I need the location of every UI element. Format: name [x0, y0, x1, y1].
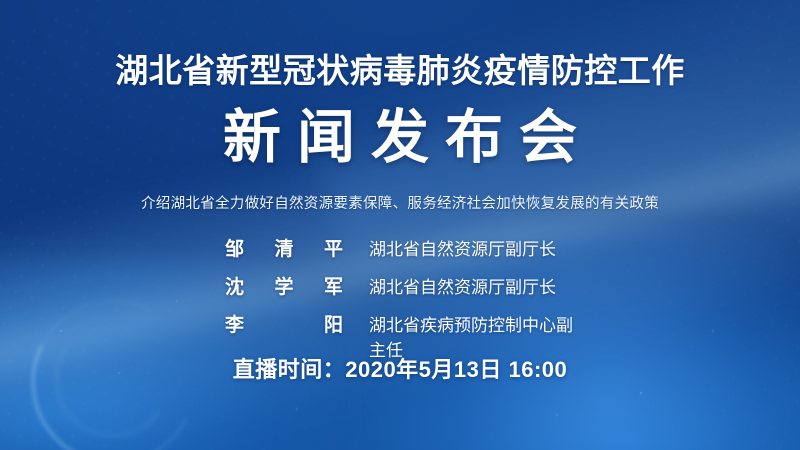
press-conference-poster: 湖北省新型冠状病毒肺炎疫情防控工作 新闻发布会 介绍湖北省全力做好自然资源要素保…	[0, 0, 800, 450]
broadcast-time: 直播时间：2020年5月13日 16:00	[0, 352, 800, 384]
list-item: 邹清平 湖北省自然资源厅副厅长	[225, 234, 575, 261]
page-title: 湖北省新型冠状病毒肺炎疫情防控工作	[0, 52, 800, 90]
list-item: 沈学军 湖北省自然资源厅副厅长	[225, 272, 575, 299]
speaker-name: 邹清平	[225, 234, 343, 261]
speaker-title: 湖北省自然资源厅副厅长	[343, 273, 575, 298]
speaker-title: 湖北省自然资源厅副厅长	[343, 235, 575, 260]
speaker-name: 沈学军	[225, 272, 343, 299]
subtitle: 介绍湖北省全力做好自然资源要素保障、服务经济社会加快恢复发展的有关政策	[0, 192, 800, 213]
poster-content: 湖北省新型冠状病毒肺炎疫情防控工作 新闻发布会 介绍湖北省全力做好自然资源要素保…	[0, 0, 800, 450]
speaker-name: 李阳	[225, 310, 343, 337]
headline: 新闻发布会	[0, 104, 800, 172]
speaker-list: 邹清平 湖北省自然资源厅副厅长 沈学军 湖北省自然资源厅副厅长 李阳 湖北省疾病…	[0, 234, 800, 361]
